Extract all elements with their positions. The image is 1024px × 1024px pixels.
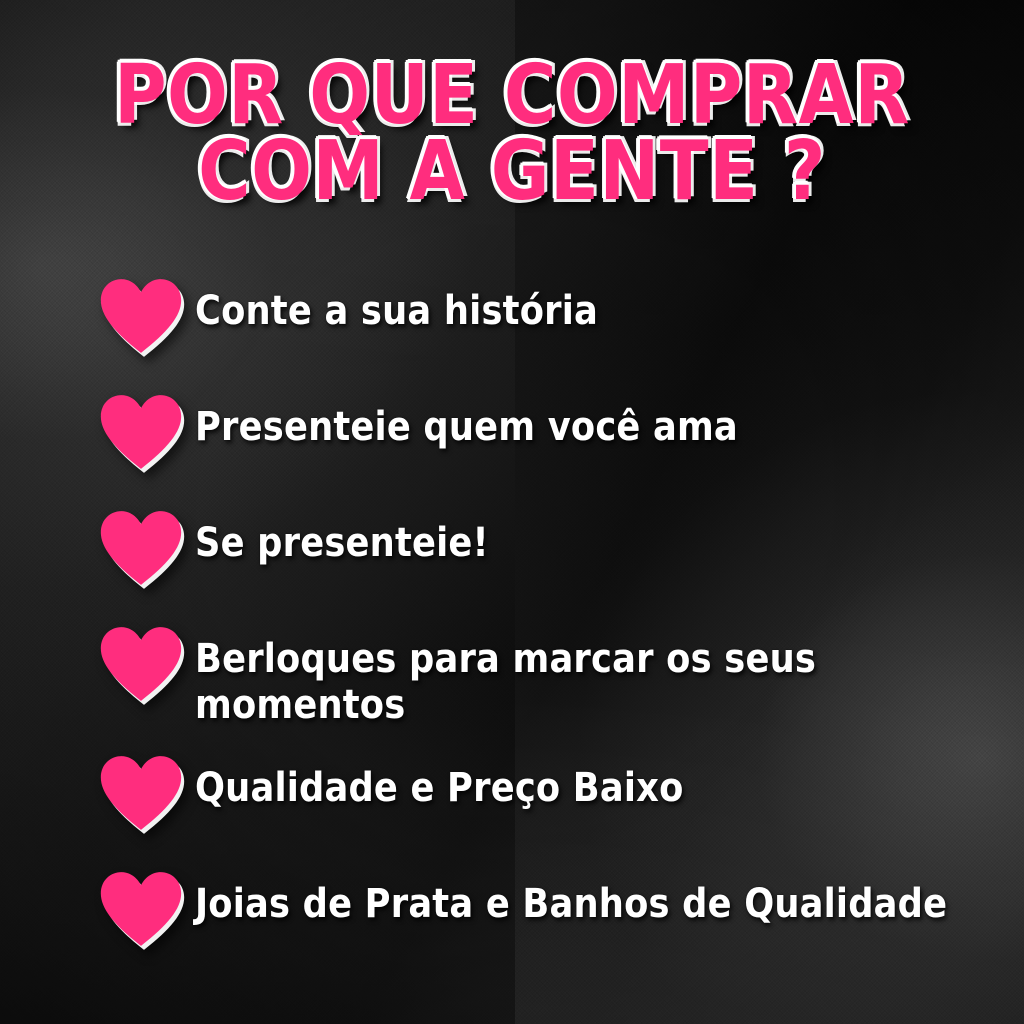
list-item-label: Qualidade e Preço Baixo	[195, 749, 964, 811]
list-item-label: Joias de Prata e Banhos de Qualidade	[195, 865, 964, 927]
benefits-list: Conte a sua história Presenteie quem voc…	[100, 272, 980, 981]
promo-poster: POR QUE COMPRAR COM A GENTE ? Conte a su…	[0, 0, 1024, 1024]
list-item-label: Se presenteie!	[195, 504, 964, 566]
list-item-label: Presenteie quem você ama	[195, 388, 964, 450]
list-item: Conte a sua história	[100, 272, 980, 368]
page-title-line-1: POR QUE COMPRAR	[15, 58, 1008, 134]
list-item: Qualidade e Preço Baixo	[100, 749, 980, 845]
heart-icon	[100, 388, 195, 470]
list-item-label: Berloques para marcar os seus momentos	[195, 620, 964, 729]
page-title: POR QUE COMPRAR COM A GENTE ?	[0, 58, 1024, 211]
heart-icon	[100, 865, 195, 947]
heart-icon	[100, 749, 195, 831]
list-item: Presenteie quem você ama	[100, 388, 980, 484]
heart-icon	[100, 272, 195, 354]
heart-icon	[100, 620, 195, 702]
list-item: Se presenteie!	[100, 504, 980, 600]
list-item: Joias de Prata e Banhos de Qualidade	[100, 865, 980, 961]
list-item-label: Conte a sua história	[195, 272, 964, 334]
list-item: Berloques para marcar os seus momentos	[100, 620, 980, 729]
poster-content: POR QUE COMPRAR COM A GENTE ? Conte a su…	[0, 0, 1024, 1024]
page-title-line-2: COM A GENTE ?	[15, 134, 1008, 210]
heart-icon	[100, 504, 195, 586]
